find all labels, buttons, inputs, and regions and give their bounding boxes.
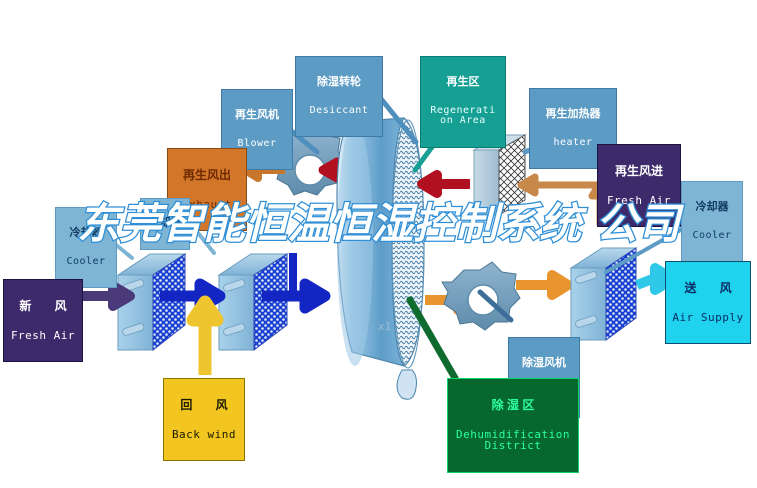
- fresh-air-inlet-arrow: [83, 286, 130, 306]
- label-cooler-left-cn: 冷却器: [58, 228, 114, 240]
- label-dehumidification-district-en: Dehumidification District: [450, 429, 576, 452]
- label-regen-fresh-air: 再生风进 Fresh Air: [597, 144, 681, 227]
- label-fresh-air-inlet-cn: 新 风: [6, 300, 80, 313]
- back-wind-arrow: [193, 302, 217, 375]
- dehum-air-arrow-2: [516, 275, 568, 295]
- label-desiccant-en: Desiccant: [298, 106, 380, 117]
- label-fresh-air-inlet-en: Fresh Air: [6, 330, 80, 342]
- label-back-wind-cn: 回 风: [166, 399, 242, 412]
- label-desiccant: 除湿转轮 Desiccant: [295, 56, 383, 137]
- label-cooler-left-2: 冷却器: [140, 198, 190, 250]
- label-cooler-left: 冷却器 Cooler: [55, 207, 117, 288]
- label-dehum-blower-cn: 除湿风机: [511, 358, 577, 370]
- label-regen-blower-cn: 再生风机: [224, 110, 290, 122]
- regen-heated-air-arrow: [422, 175, 470, 193]
- label-air-supply-cn: 送 风: [668, 282, 748, 295]
- label-desiccant-cn: 除湿转轮: [298, 77, 380, 89]
- label-air-supply: 送 风 Air Supply: [665, 261, 751, 344]
- label-air-supply-en: Air Supply: [668, 312, 748, 324]
- label-regen-fresh-air-cn: 再生风进: [600, 165, 678, 178]
- label-regeneration-area: 再生区 Regenerati on Area: [420, 56, 506, 148]
- label-cooler-right: 冷却器 Cooler: [681, 181, 743, 262]
- label-back-wind-en: Back wind: [166, 429, 242, 441]
- label-regen-fresh-air-en: Fresh Air: [600, 195, 678, 207]
- desiccant-wheel-shape: x1: [337, 118, 424, 399]
- label-dehumidification-district: 除 湿 区 Dehumidification District: [447, 378, 579, 473]
- label-cooler-left-2-cn: 冷却器: [143, 218, 187, 230]
- label-cooler-right-cn: 冷却器: [684, 202, 740, 214]
- label-fresh-air-inlet: 新 风 Fresh Air: [3, 279, 83, 362]
- label-regeneration-area-en: Regenerati on Area: [423, 106, 503, 127]
- cooler-2-shape: [219, 254, 287, 350]
- dehumidifier-process-diagram: x1: [0, 0, 757, 488]
- svg-text:x1: x1: [378, 320, 392, 333]
- label-back-wind: 回 风 Back wind: [163, 378, 245, 461]
- label-dehumidification-district-cn: 除 湿 区: [450, 399, 576, 412]
- label-exhaust-cn: 再生风出: [170, 169, 244, 182]
- label-regeneration-area-cn: 再生区: [423, 77, 503, 89]
- label-regeneration-heater-cn: 再生加热器: [532, 109, 614, 121]
- regen-fresh-air-arrow: [521, 177, 608, 225]
- label-cooler-right-en: Cooler: [684, 231, 740, 242]
- label-cooler-left-en: Cooler: [58, 257, 114, 268]
